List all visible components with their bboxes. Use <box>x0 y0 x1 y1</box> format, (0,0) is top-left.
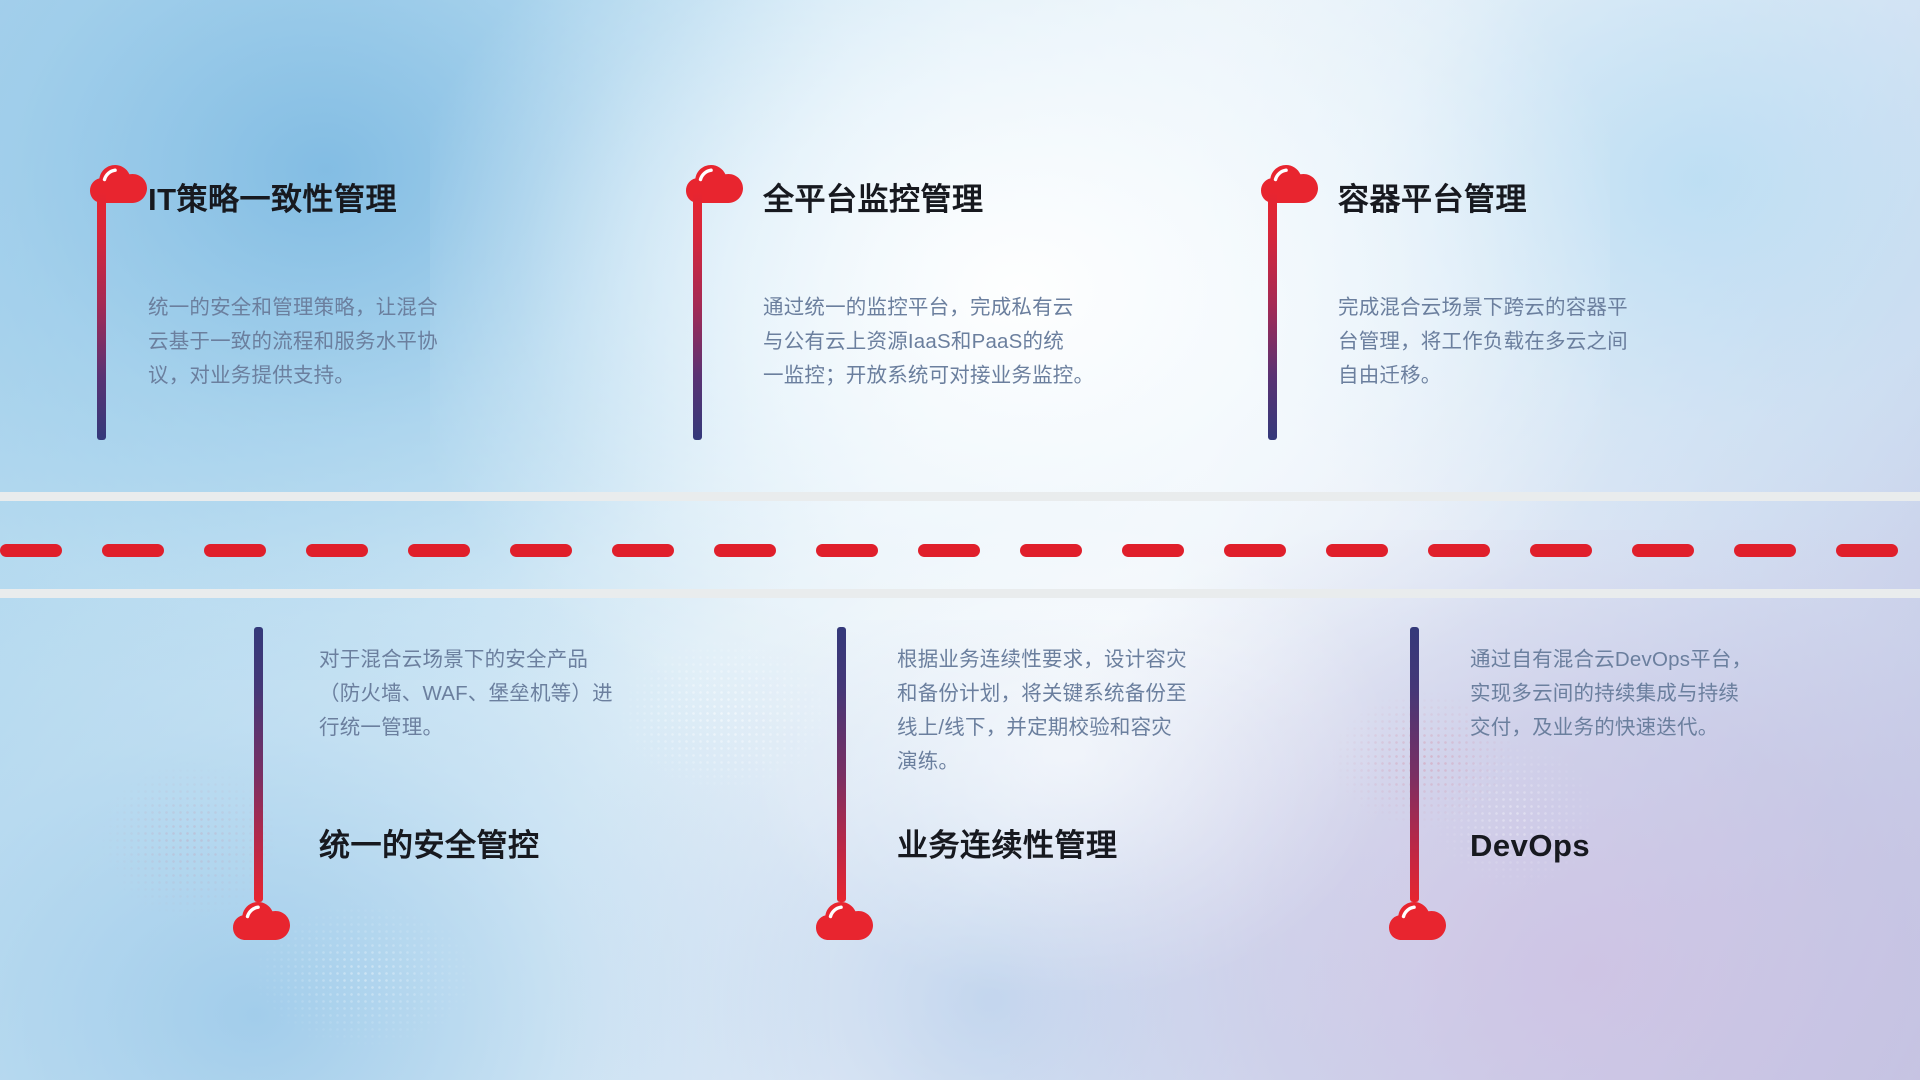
infographic-canvas: IT策略一致性管理 统一的安全和管理策略，让混合 云基于一致的流程和服务水平协 … <box>0 0 1920 1080</box>
road-dash-segment <box>1326 544 1388 557</box>
bottom-body-1: 对于混合云场景下的安全产品 （防火墙、WAF、堡垒机等）进 行统一管理。 <box>319 643 664 745</box>
road-dash-segment <box>714 544 776 557</box>
road-dash-segment <box>1224 544 1286 557</box>
connector-stem <box>693 192 702 440</box>
connector-stem <box>254 627 263 902</box>
road-dash-segment <box>1428 544 1490 557</box>
connector-stem <box>1268 192 1277 440</box>
top-heading-3: 容器平台管理 <box>1338 184 1527 215</box>
road-dash-segment <box>1122 544 1184 557</box>
road-dash-segment <box>510 544 572 557</box>
road-dash-segment <box>1530 544 1592 557</box>
road-dash-segment <box>1632 544 1694 557</box>
decorative-dot-cluster <box>1430 740 1600 890</box>
connector-stem <box>97 192 106 440</box>
road-dash-segment <box>306 544 368 557</box>
road-dash-segment <box>0 544 62 557</box>
road-dash-segment <box>102 544 164 557</box>
cloud-icon <box>1388 897 1450 941</box>
road-dash-segment <box>1836 544 1898 557</box>
cloud-icon <box>815 897 877 941</box>
road-dash-segment <box>612 544 674 557</box>
road-dash-segment <box>408 544 470 557</box>
bottom-heading-3: DevOps <box>1470 830 1590 861</box>
road-dash-segment <box>918 544 980 557</box>
connector-stem <box>837 627 846 902</box>
road-rail-bottom <box>0 589 1920 598</box>
road-dash-segment <box>1734 544 1796 557</box>
bottom-body-2: 根据业务连续性要求，设计容灾 和备份计划，将关键系统备份至 线上/线下，并定期校… <box>897 643 1242 779</box>
decorative-dot-cluster <box>100 760 280 920</box>
road-dash-segment <box>204 544 266 557</box>
top-body-1: 统一的安全和管理策略，让混合 云基于一致的流程和服务水平协 议，对业务提供支持。 <box>148 291 493 393</box>
road-dashed-center-line <box>0 544 1920 557</box>
road-dash-segment <box>1020 544 1082 557</box>
cloud-icon <box>232 897 294 941</box>
bottom-heading-1: 统一的安全管控 <box>319 830 540 861</box>
top-body-3: 完成混合云场景下跨云的容器平 台管理，将工作负载在多云之间 自由迁移。 <box>1338 291 1683 393</box>
bottom-body-3: 通过自有混合云DevOps平台， 实现多云间的持续集成与持续 交付，及业务的快速… <box>1470 643 1815 745</box>
road-rail-top <box>0 492 1920 501</box>
top-heading-1: IT策略一致性管理 <box>148 184 397 215</box>
top-heading-2: 全平台监控管理 <box>763 184 984 215</box>
bottom-heading-2: 业务连续性管理 <box>897 830 1118 861</box>
connector-stem <box>1410 627 1419 902</box>
top-body-2: 通过统一的监控平台，完成私有云 与公有云上资源IaaS和PaaS的统 一监控；开… <box>763 291 1123 393</box>
road-dash-segment <box>816 544 878 557</box>
